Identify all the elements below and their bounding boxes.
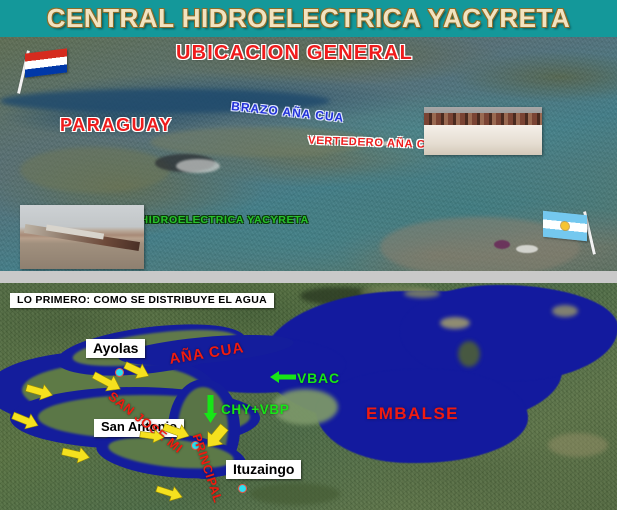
reservoir-island	[458, 341, 480, 367]
label-vbac: VBAC	[297, 371, 340, 385]
label-paraguay: PARAGUAY	[60, 116, 173, 134]
reservoir-island	[440, 317, 470, 329]
inset-photo-central	[20, 205, 144, 269]
argentina-sun-icon	[561, 222, 569, 231]
field-patch	[250, 483, 340, 505]
ubicacion-general-panel: UBICACION GENERAL PARAGUAY ARGENTINA BRA…	[0, 37, 617, 271]
caption-lo-primero: LO PRIMERO: COMO SE DISTRIBUYE EL AGUA	[10, 293, 274, 308]
argentina-flag	[543, 211, 587, 242]
dam-gates-graphic	[424, 113, 542, 125]
city-label-ayolas: Ayolas	[86, 339, 145, 358]
reservoir-island	[404, 289, 440, 298]
inset-photo-vertedero	[424, 107, 542, 155]
slide-root: CENTRAL HIDROELECTRICA YACYRETA UBICACIO…	[0, 0, 617, 510]
urban-patch	[516, 245, 538, 253]
label-embalse: EMBALSE	[366, 405, 459, 422]
distribucion-agua-panel: LO PRIMERO: COMO SE DISTRIBUYE EL AGUA A…	[0, 283, 617, 510]
urban-patch	[494, 240, 510, 249]
chy-vbp-flow-arrow-icon	[203, 395, 218, 423]
label-chy-vbp: CHY+VBP	[221, 403, 289, 417]
slide-header-bar: CENTRAL HIDROELECTRICA YACYRETA	[0, 0, 617, 37]
powerhouse-structure-graphic	[24, 224, 140, 251]
page-title: CENTRAL HIDROELECTRICA YACYRETA	[47, 3, 571, 34]
spillway-foam-graphic	[424, 125, 542, 155]
panel-divider	[0, 271, 617, 283]
reservoir-island	[552, 305, 578, 317]
city-dot-ituzaingo	[238, 484, 247, 493]
subtitle-ubicacion-general: UBICACION GENERAL	[176, 43, 413, 63]
city-label-ituzaingo: Ituzaingo	[226, 460, 301, 479]
field-patch	[548, 433, 608, 457]
reservoir-embalse-lobe	[400, 285, 617, 381]
urban-patch	[176, 159, 220, 173]
land-patch	[20, 147, 170, 193]
vbac-flow-arrow-icon	[270, 370, 296, 384]
